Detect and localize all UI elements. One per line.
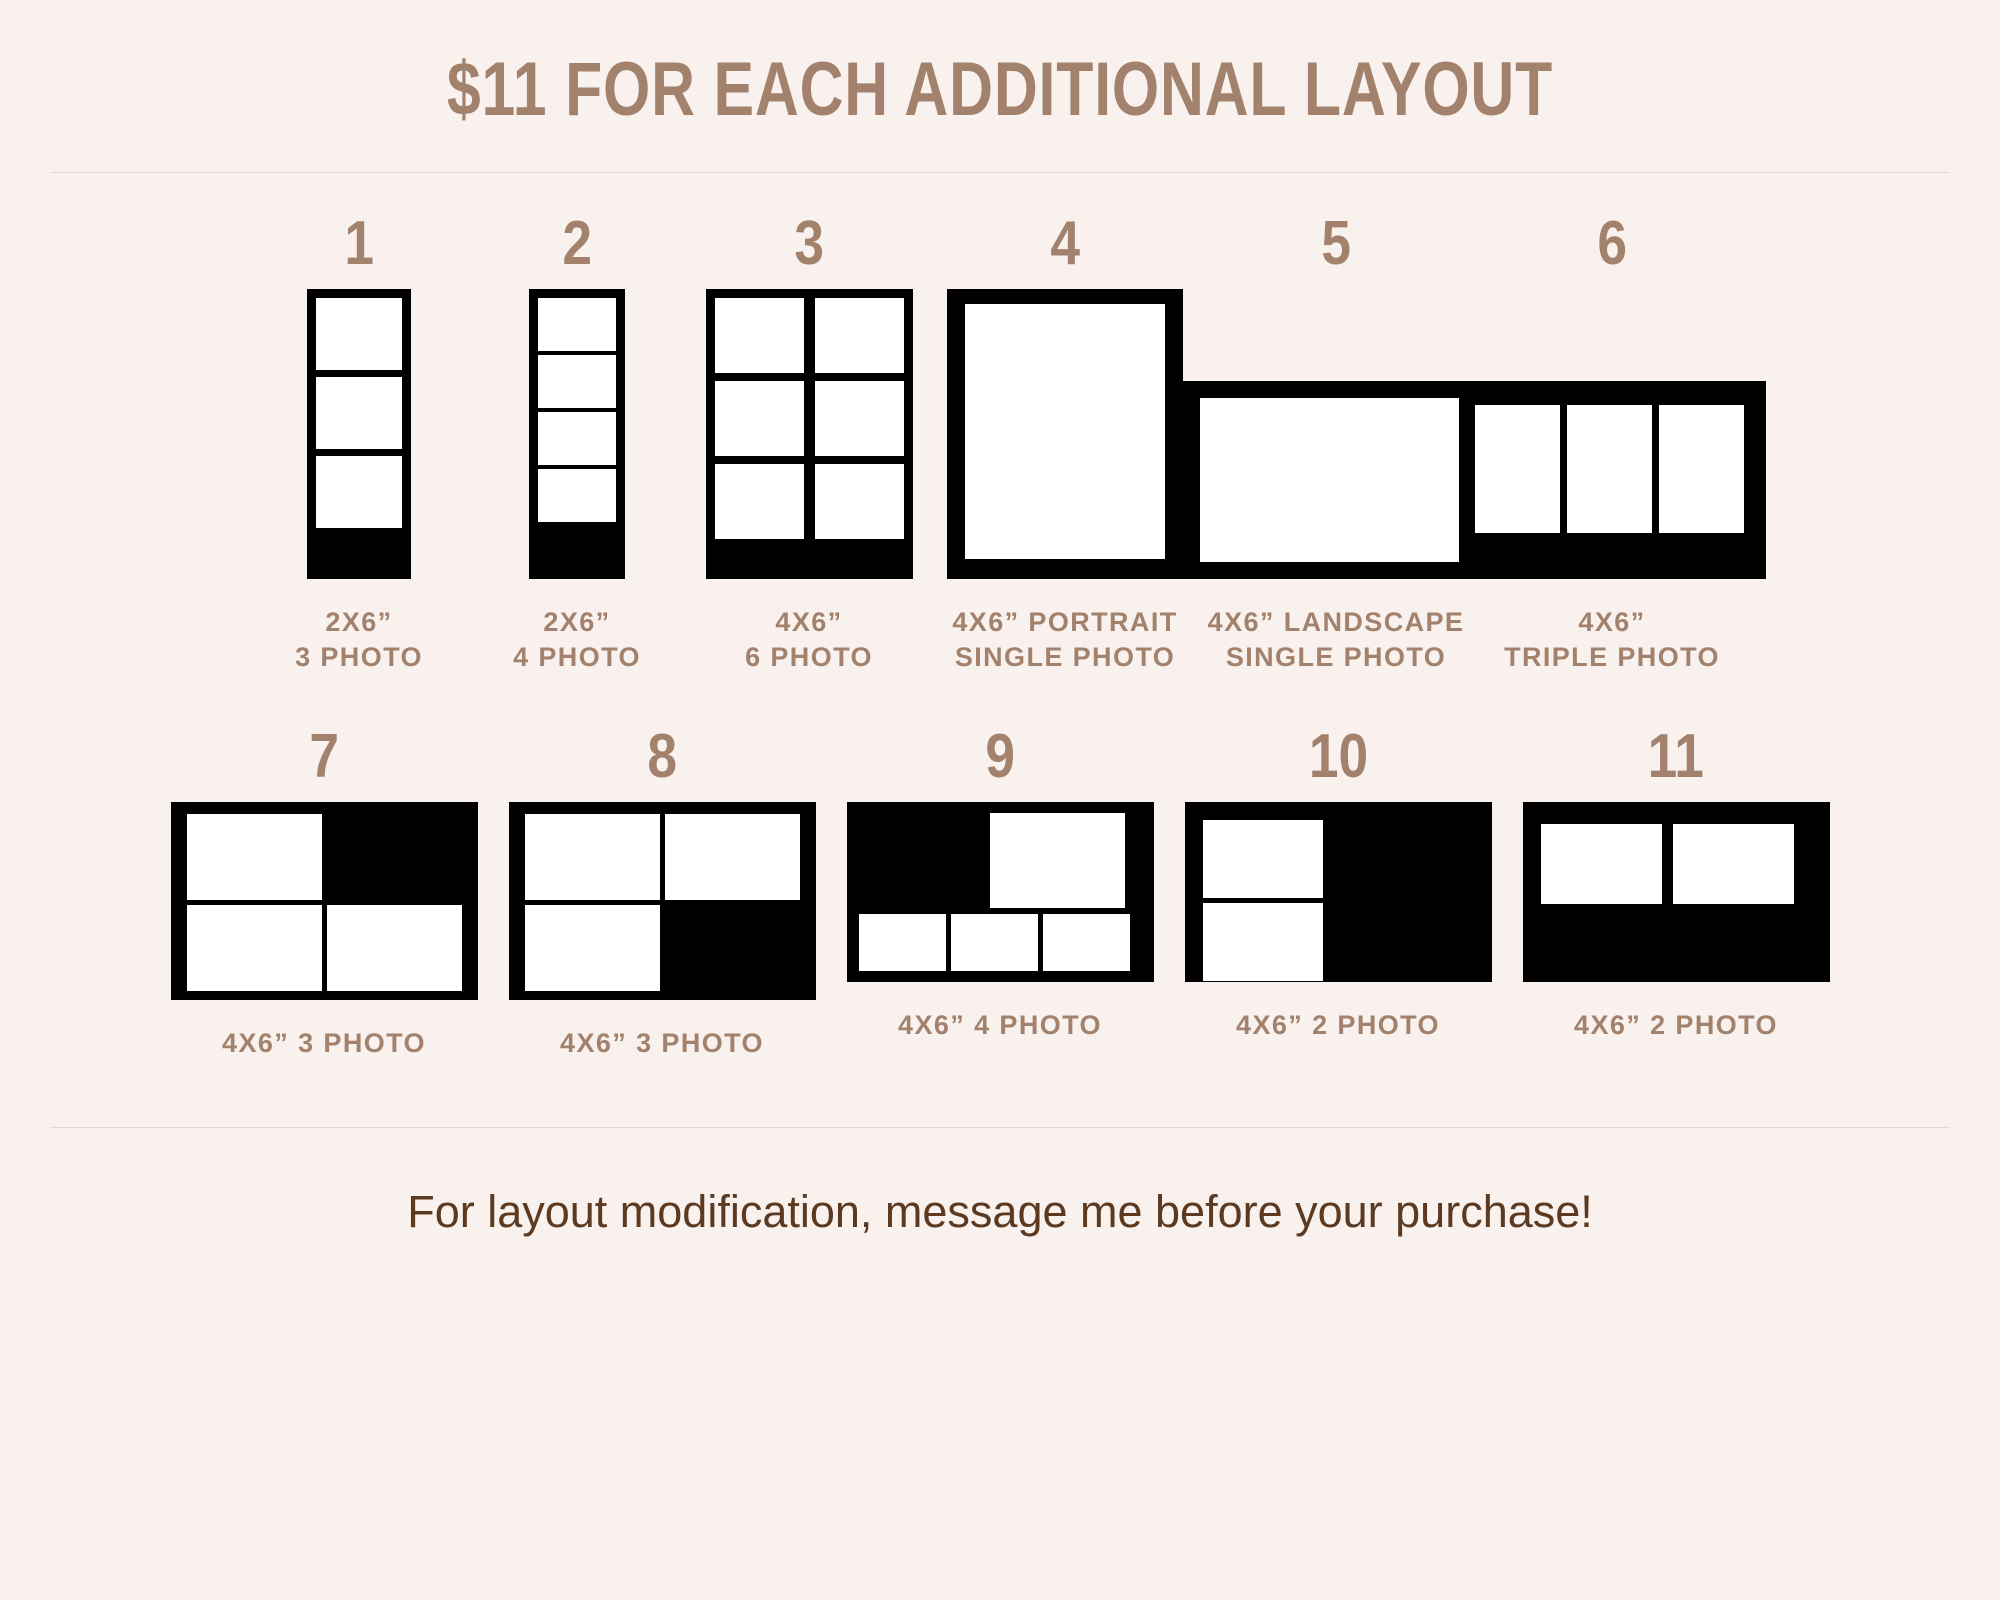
layout-label-8: 4X6” 3 PHOTO	[560, 1026, 764, 1061]
layout-preview-4	[947, 289, 1183, 579]
photo-slot	[187, 814, 322, 900]
layout-preview-11	[1523, 802, 1830, 982]
layout-number-10: 10	[1308, 726, 1367, 788]
layout-preview-7	[171, 802, 478, 1000]
layout-preview-3	[706, 289, 913, 579]
frame-outline-8	[509, 802, 816, 1000]
layout-number-3: 3	[794, 213, 824, 275]
photo-slot	[1567, 405, 1652, 533]
frame-outline-1	[307, 289, 411, 579]
layout-row-first: 1 2X6” 3 PHOTO 2 2X6	[0, 213, 2000, 674]
photo-slot	[525, 814, 660, 900]
photo-slot	[715, 381, 804, 456]
layout-label-9: 4X6” 4 PHOTO	[898, 1008, 1102, 1043]
layout-number-7: 7	[309, 726, 339, 788]
layout-label-5: 4X6” LANDSCAPE SINGLE PHOTO	[1208, 605, 1465, 674]
layout-card-9[interactable]: 9 4X6” 4 PHOTO	[842, 726, 1158, 1043]
photo-slot	[1673, 824, 1794, 904]
layout-card-2[interactable]: 2 2X6” 4 PHOTO	[475, 213, 679, 674]
photo-slot	[965, 304, 1165, 559]
photo-slot	[525, 905, 660, 991]
photo-slot	[327, 905, 462, 991]
layout-label-1: 2X6” 3 PHOTO	[295, 605, 423, 674]
frame-outline-4	[947, 289, 1183, 579]
frame-outline-5	[1183, 381, 1490, 579]
photo-slot	[316, 377, 402, 449]
photo-slot	[815, 381, 904, 456]
photo-slot	[1200, 398, 1473, 562]
photo-slot	[715, 298, 804, 373]
layout-preview-10	[1185, 802, 1492, 982]
layout-label-7: 4X6” 3 PHOTO	[222, 1026, 426, 1061]
layout-label-6: 4X6” TRIPLE PHOTO	[1504, 605, 1720, 674]
layout-label-2: 2X6” 4 PHOTO	[513, 605, 641, 674]
page-title: $11 FOR EACH ADDITIONAL LAYOUT	[200, 0, 1800, 128]
photo-slot	[538, 469, 616, 522]
layout-card-5[interactable]: 5 4X6” LANDSCAPE SINGLE PHOTO	[1205, 213, 1467, 674]
photo-slot	[316, 298, 402, 370]
layout-card-8[interactable]: 8 4X6” 3 PHOTO	[504, 726, 820, 1061]
layout-preview-1	[307, 289, 411, 579]
frame-outline-7	[171, 802, 478, 1000]
frame-outline-10	[1185, 802, 1492, 982]
photo-slot	[1541, 824, 1662, 904]
photo-slot	[538, 355, 616, 408]
photo-slot	[187, 905, 322, 991]
frame-outline-9	[847, 802, 1154, 982]
layout-number-5: 5	[1321, 213, 1351, 275]
frame-outline-11	[1523, 802, 1830, 982]
photo-slot	[990, 813, 1125, 908]
frame-outline-6	[1459, 381, 1766, 579]
layout-card-10[interactable]: 10 4X6” 2 PHOTO	[1180, 726, 1496, 1043]
photo-slot	[715, 464, 804, 539]
layout-number-8: 8	[647, 726, 677, 788]
photo-slot	[1475, 405, 1560, 533]
footer-note: For layout modification, message me befo…	[0, 1128, 2000, 1238]
photo-slot	[815, 298, 904, 373]
layout-number-11: 11	[1648, 726, 1704, 788]
layout-row-second: 7 4X6” 3 PHOTO 8 4X6” 3 PHOTO	[0, 726, 2000, 1061]
layout-label-3: 4X6” 6 PHOTO	[745, 605, 873, 674]
photo-slot	[1203, 903, 1323, 981]
photo-slot	[665, 814, 800, 900]
layout-card-3[interactable]: 3 4X6” 6 PHOTO	[693, 213, 925, 674]
photo-slot	[1043, 914, 1130, 971]
photo-slot	[1203, 820, 1323, 898]
photo-slot	[815, 464, 904, 539]
frame-outline-3	[706, 289, 913, 579]
layout-label-10: 4X6” 2 PHOTO	[1236, 1008, 1440, 1043]
divider-top	[50, 172, 1950, 173]
layout-options-poster: $11 FOR EACH ADDITIONAL LAYOUT 1 2X6” 3 …	[0, 0, 2000, 1600]
layout-preview-2	[529, 289, 625, 579]
layout-number-2: 2	[562, 213, 592, 275]
layout-number-6: 6	[1597, 213, 1627, 275]
layout-card-6[interactable]: 6 4X6” TRIPLE PHOTO	[1481, 213, 1743, 674]
layout-card-7[interactable]: 7 4X6” 3 PHOTO	[166, 726, 482, 1061]
layout-preview-8	[509, 802, 816, 1000]
photo-slot	[951, 914, 1038, 971]
layout-card-4[interactable]: 4 4X6” PORTRAIT SINGLE PHOTO	[939, 213, 1191, 674]
layout-number-9: 9	[985, 726, 1015, 788]
layout-preview-6	[1459, 289, 1766, 579]
photo-slot	[538, 298, 616, 351]
layout-card-11[interactable]: 11 4X6” 2 PHOTO	[1518, 726, 1834, 1043]
layout-preview-5	[1183, 289, 1490, 579]
layout-number-4: 4	[1050, 213, 1080, 275]
layout-preview-9	[847, 802, 1154, 982]
photo-slot	[1659, 405, 1744, 533]
layout-label-11: 4X6” 2 PHOTO	[1574, 1008, 1778, 1043]
photo-slot	[316, 456, 402, 528]
layout-card-1[interactable]: 1 2X6” 3 PHOTO	[257, 213, 461, 674]
frame-outline-2	[529, 289, 625, 579]
layout-label-4: 4X6” PORTRAIT SINGLE PHOTO	[952, 605, 1177, 674]
layout-number-1: 1	[344, 213, 374, 275]
photo-slot	[538, 412, 616, 465]
photo-slot	[859, 914, 946, 971]
